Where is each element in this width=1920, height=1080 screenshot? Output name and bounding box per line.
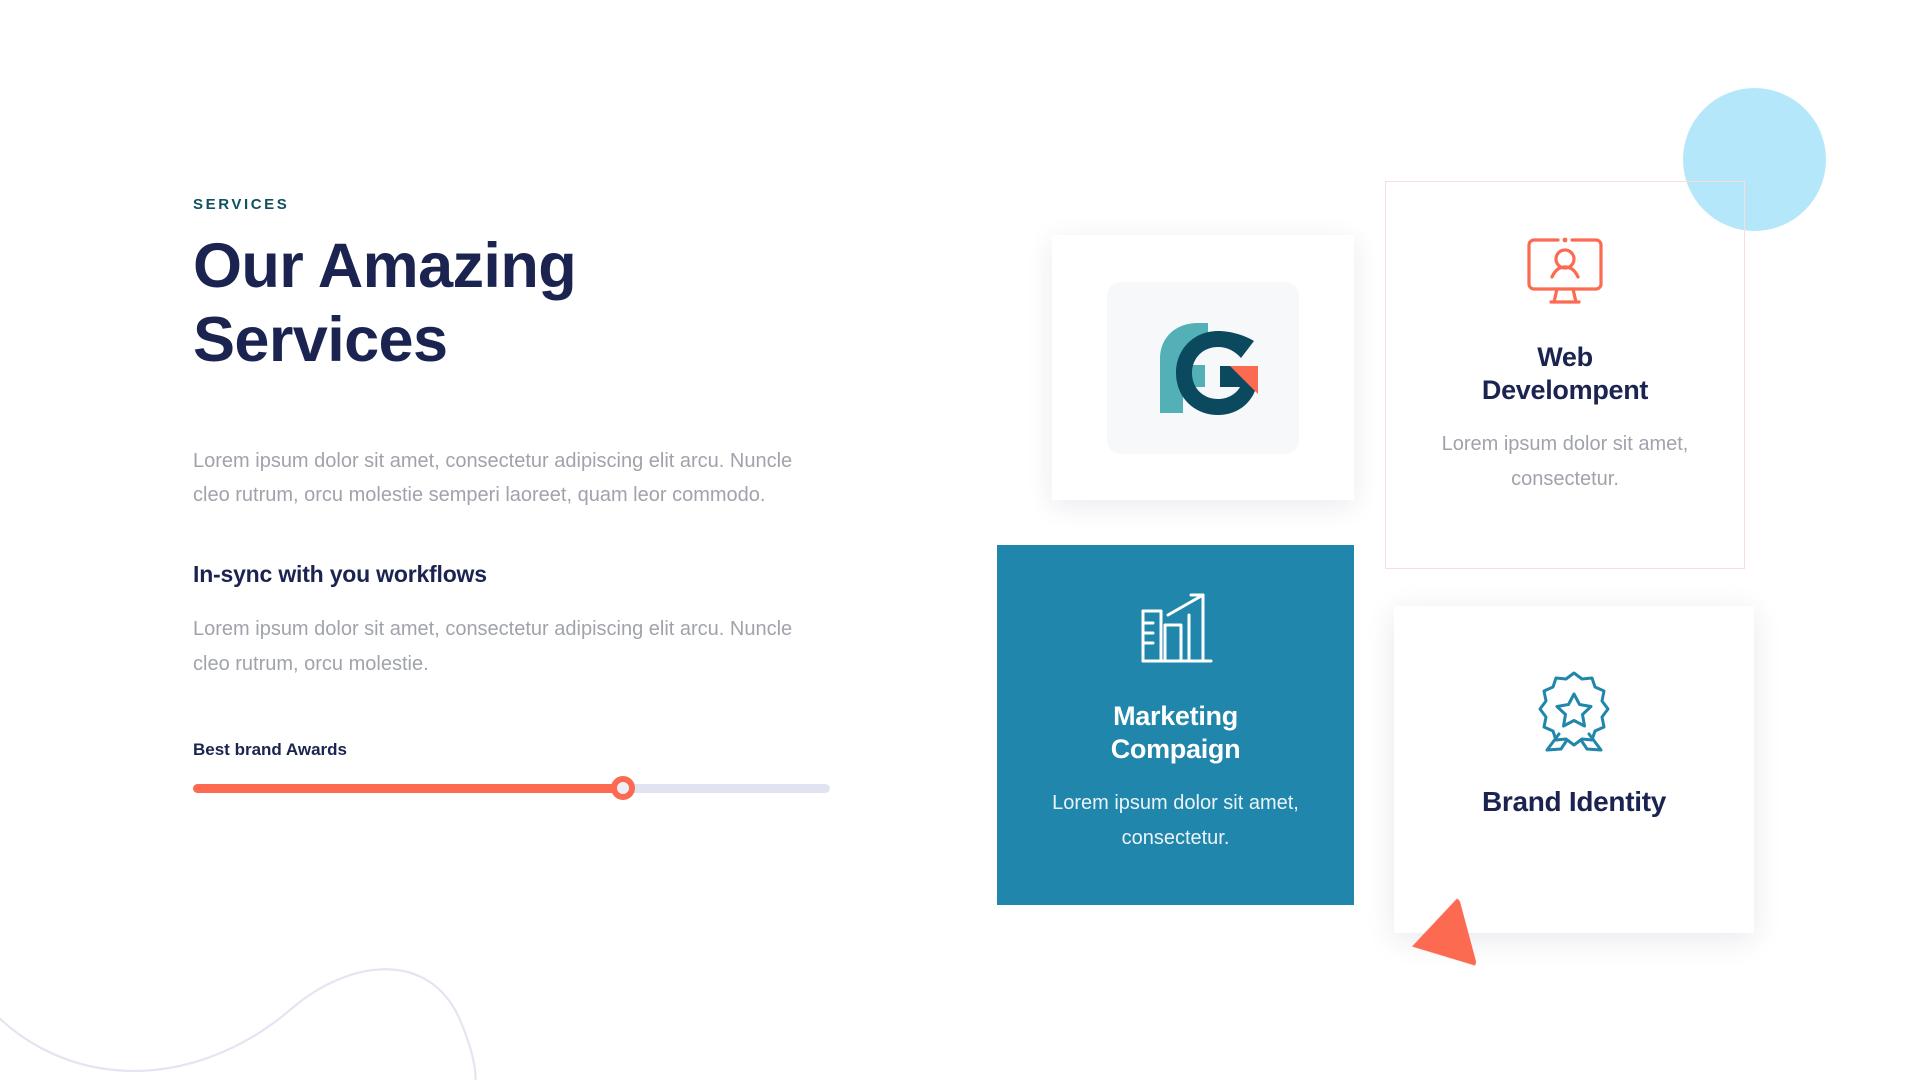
card-title-brand: Brand Identity bbox=[1482, 785, 1666, 819]
logo-tile bbox=[1107, 282, 1299, 454]
slider-track[interactable] bbox=[193, 784, 830, 793]
web-title-line-2: Develompent bbox=[1482, 374, 1648, 407]
card-description-marketing: Lorem ipsum dolor sit amet, consectetur. bbox=[1046, 786, 1306, 857]
service-card-brand-identity[interactable]: Brand Identity bbox=[1394, 606, 1754, 933]
page-title: Our Amazing Services bbox=[193, 229, 833, 378]
secondary-paragraph: Lorem ipsum dolor sit amet, consectetur … bbox=[193, 612, 818, 682]
card-description-web: Lorem ipsum dolor sit amet, consectetur. bbox=[1430, 427, 1700, 498]
headline-line-2: Services bbox=[193, 303, 833, 377]
section-eyebrow: SERVICES bbox=[193, 196, 833, 213]
web-title-line-1: Web bbox=[1537, 342, 1593, 372]
card-title-web: Web Develompent bbox=[1482, 341, 1648, 407]
headline-line-1: Our Amazing bbox=[193, 231, 576, 301]
service-card-web-development[interactable]: Web Develompent Lorem ipsum dolor sit am… bbox=[1385, 181, 1745, 569]
intro-paragraph: Lorem ipsum dolor sit amet, consectetur … bbox=[193, 444, 818, 514]
progress-slider-block: Best brand Awards bbox=[193, 740, 833, 793]
slider-fill bbox=[193, 784, 623, 793]
award-badge-icon bbox=[1532, 668, 1616, 759]
logo-card[interactable] bbox=[1052, 235, 1354, 500]
left-content-column: SERVICES Our Amazing Services Lorem ipsu… bbox=[193, 196, 833, 793]
monitor-user-icon bbox=[1522, 232, 1608, 315]
service-card-marketing-campaign[interactable]: Marketing Compaign Lorem ipsum dolor sit… bbox=[997, 545, 1354, 905]
marketing-title-line-2: Compaign bbox=[1111, 733, 1241, 766]
brand-title-line-1: Brand Identity bbox=[1482, 786, 1666, 817]
slider-thumb[interactable] bbox=[611, 776, 635, 800]
bar-chart-growth-icon bbox=[1135, 593, 1217, 674]
card-title-marketing: Marketing Compaign bbox=[1111, 700, 1241, 766]
marketing-title-line-1: Marketing bbox=[1113, 701, 1238, 731]
sub-heading: In-sync with you workflows bbox=[193, 561, 833, 588]
fg-logo-icon bbox=[1142, 313, 1264, 423]
slider-label: Best brand Awards bbox=[193, 740, 833, 760]
services-slide: SERVICES Our Amazing Services Lorem ipsu… bbox=[0, 0, 1920, 1080]
wave-decoration bbox=[0, 890, 510, 1080]
